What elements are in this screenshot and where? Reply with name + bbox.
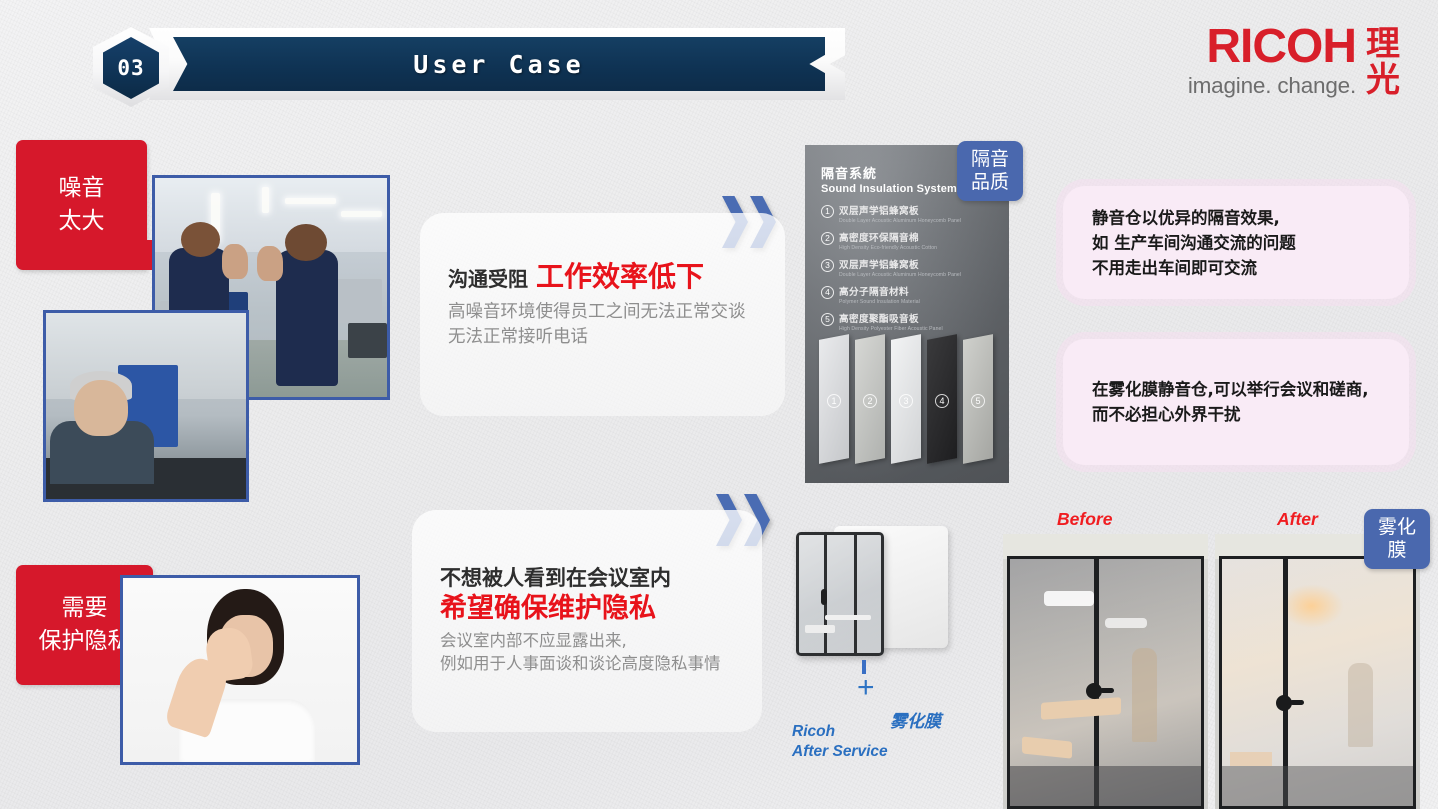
- photo-booth-before: [1003, 534, 1208, 809]
- benefit-card-sound: 静音仓以优异的隔音效果, 如 生产车间沟通交流的问题 不用走出车间即可交流: [1063, 186, 1409, 299]
- section-header: User Case 03: [45, 28, 845, 100]
- badge-noise-line2: 太大: [59, 205, 105, 238]
- image-meeting-booth-render: [786, 522, 954, 672]
- case2-heading-red: 希望确保维护隐私: [440, 592, 748, 626]
- photo-worker-phone-call: [43, 310, 249, 502]
- insulation-list-item: 4 高分子隔音材料 Polymer Sound Insulation Mater…: [821, 284, 1001, 305]
- logo-cjk-char-2: 光: [1366, 62, 1400, 98]
- page-title: User Case: [413, 50, 584, 79]
- insulation-layer-diagram: 1 2 3 4 5: [811, 320, 1003, 475]
- case2-sub-line1: 会议室内部不应显露出来,: [440, 629, 748, 652]
- plus-icon: +: [857, 671, 875, 705]
- service-line2: After Service: [792, 742, 888, 762]
- badge-privacy-line2: 保护隐私: [39, 625, 131, 658]
- insulation-item-en: Double Layer Acoustic Aluminum Honeycomb…: [839, 272, 961, 278]
- ricoh-logo: RICOH imagine. change. 理 光: [1188, 24, 1400, 100]
- layer-number: 4: [935, 394, 949, 408]
- slide-root: User Case 03 RICOH imagine. change. 理 光 …: [0, 0, 1438, 809]
- logo-cjk-char-1: 理: [1366, 26, 1400, 62]
- insulation-title-en: Sound Insulation System: [821, 183, 957, 195]
- insulation-list-item: 1 双层声学铝蜂窝板 Double Layer Acoustic Aluminu…: [821, 203, 1001, 224]
- benefit2-line2: 而不必担心外界干扰: [1092, 402, 1369, 427]
- chip-insulation-quality: 隔音 品质: [957, 141, 1023, 201]
- badge-noise-too-loud: 噪音 太大: [16, 140, 147, 270]
- layer-number: 5: [971, 394, 985, 408]
- case1-heading-red: 工作效率低下: [536, 255, 704, 295]
- chip-insulation-line2: 品质: [971, 171, 1009, 194]
- banner-inner-bar: User Case: [173, 37, 825, 91]
- benefit-card-privacy: 在雾化膜静音仓,可以举行会议和磋商, 而不必担心外界干扰: [1063, 339, 1409, 465]
- insulation-item-number: 3: [821, 259, 834, 272]
- chip-film-line2: 膜: [1378, 539, 1416, 562]
- film-label: 雾化膜: [890, 707, 941, 732]
- insulation-layer-list: 1 双层声学铝蜂窝板 Double Layer Acoustic Aluminu…: [821, 203, 1001, 338]
- case2-heading-dark: 不想被人看到在会议室内: [440, 562, 748, 592]
- insulation-item-en: Double Layer Acoustic Aluminum Honeycomb…: [839, 218, 961, 224]
- insulation-item-cn: 双层声学铝蜂窝板: [839, 203, 961, 217]
- badge-privacy-line1: 需要: [39, 592, 131, 625]
- insulation-item-en: High Density Eco-friendly Acoustic Cotto…: [839, 245, 937, 251]
- insulation-item-number: 1: [821, 205, 834, 218]
- label-after: After: [1277, 509, 1318, 530]
- case1-sub-line2: 无法正常接听电话: [448, 325, 771, 350]
- insulation-item-cn: 高密度环保隔音棉: [839, 230, 937, 244]
- photo-booth-after: [1215, 534, 1420, 809]
- case1-heading-dark: 沟通受阻: [448, 263, 528, 292]
- logo-wordmark: RICOH: [1188, 24, 1356, 70]
- benefit1-line1: 静音仓以优异的隔音效果,: [1092, 205, 1296, 230]
- badge-noise-line1: 噪音: [59, 172, 105, 205]
- benefit2-line1: 在雾化膜静音仓,可以举行会议和磋商,: [1092, 377, 1369, 402]
- case-card-privacy: 不想被人看到在会议室内 希望确保维护隐私 会议室内部不应显露出来, 例如用于人事…: [412, 510, 762, 732]
- ricoh-after-service-label: Ricoh After Service: [792, 722, 888, 763]
- photo-woman-covering-face: [120, 575, 360, 765]
- chip-fog-film: 雾化 膜: [1364, 509, 1430, 569]
- chip-insulation-line1: 隔音: [971, 148, 1009, 171]
- logo-tagline: imagine. change.: [1188, 72, 1356, 100]
- chip-film-line1: 雾化: [1378, 516, 1416, 539]
- section-number: 03: [117, 56, 144, 80]
- benefit1-line3: 不用走出车间即可交流: [1092, 255, 1296, 280]
- label-before: Before: [1057, 509, 1112, 530]
- benefit1-line2: 如 生产车间沟通交流的问题: [1092, 230, 1296, 255]
- service-line1: Ricoh: [792, 722, 888, 742]
- layer-number: 2: [863, 394, 877, 408]
- case2-sub-line2: 例如用于人事面谈和谈论高度隐私事情: [440, 652, 748, 675]
- layer-number: 1: [827, 394, 841, 408]
- case-card-noise: 沟通受阻 工作效率低下 高噪音环境使得员工之间无法正常交谈 无法正常接听电话: [420, 213, 785, 416]
- insulation-list-item: 2 高密度环保隔音棉 High Density Eco-friendly Aco…: [821, 230, 1001, 251]
- insulation-item-cn: 双层声学铝蜂窝板: [839, 257, 961, 271]
- insulation-item-cn: 高分子隔音材料: [839, 284, 920, 298]
- layer-number: 3: [899, 394, 913, 408]
- insulation-item-number: 2: [821, 232, 834, 245]
- insulation-item-number: 4: [821, 286, 834, 299]
- logo-cjk-mark: 理 光: [1366, 24, 1400, 99]
- insulation-item-en: Polymer Sound Insulation Material: [839, 299, 920, 305]
- insulation-title-cn: 隔音系統: [821, 163, 957, 182]
- case1-sub-line1: 高噪音环境使得员工之间无法正常交谈: [448, 300, 771, 325]
- insulation-title: 隔音系統 Sound Insulation System: [821, 163, 957, 195]
- insulation-list-item: 3 双层声学铝蜂窝板 Double Layer Acoustic Aluminu…: [821, 257, 1001, 278]
